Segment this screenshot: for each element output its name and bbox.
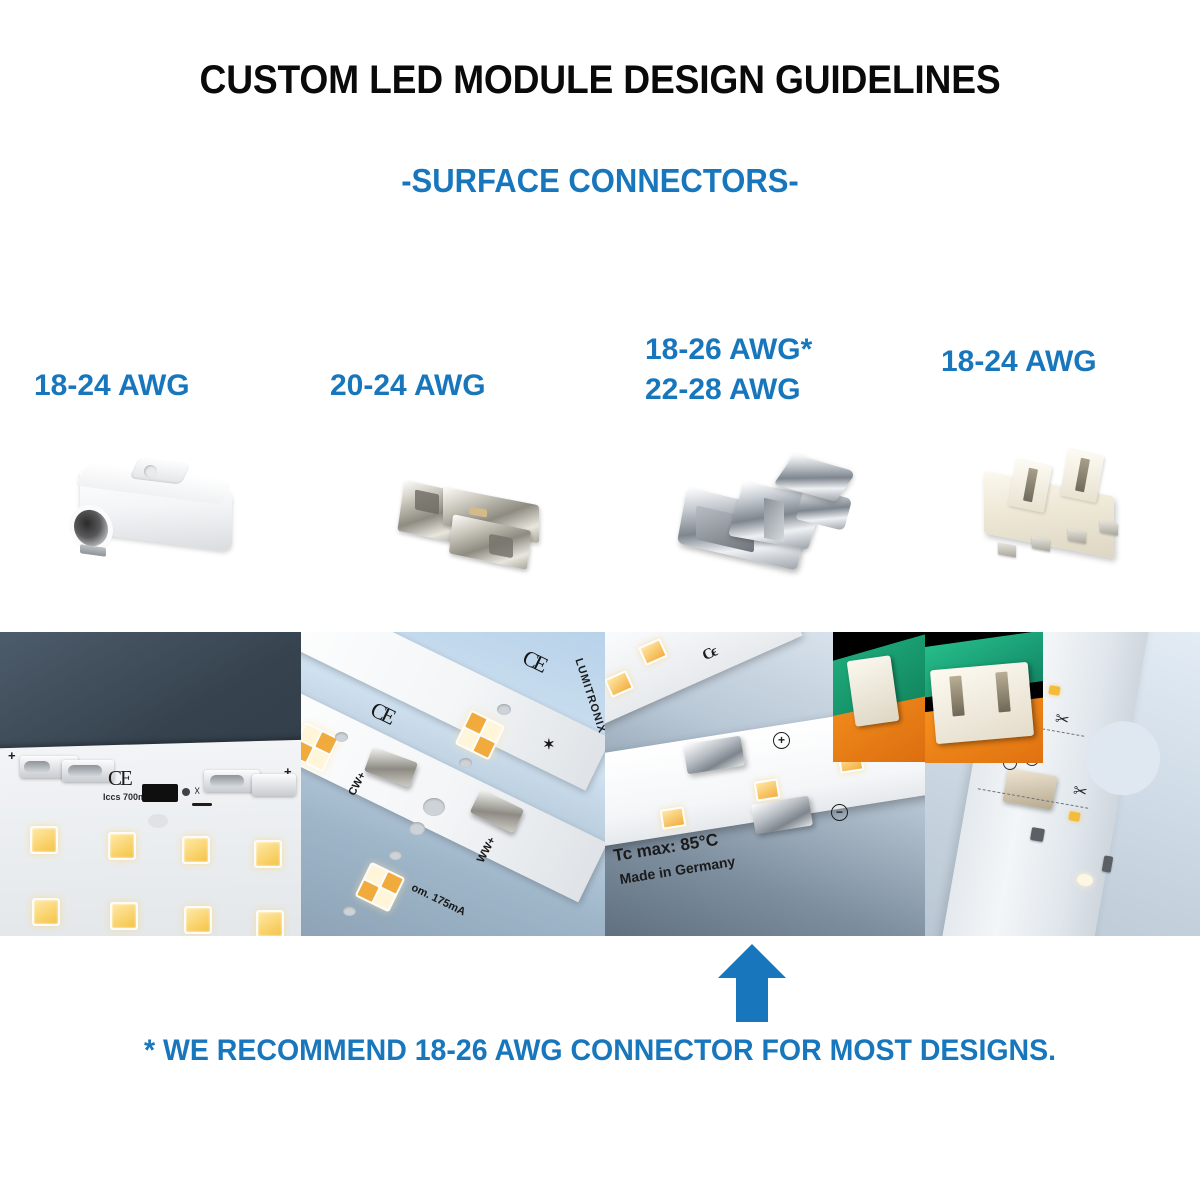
board-hole xyxy=(389,850,402,860)
connector-closeup-inset xyxy=(925,632,1043,763)
led-chip xyxy=(660,806,687,830)
led-chip xyxy=(254,840,282,868)
starburst-icon: ✶ xyxy=(543,736,555,753)
strip-smd-component xyxy=(1030,827,1045,842)
weee-bar xyxy=(192,803,212,806)
ce-mark-icon: CE xyxy=(108,766,131,791)
board-hole xyxy=(343,906,356,916)
application-photo-strip: + + CE Iccs 700mA ☓ xyxy=(0,632,1200,936)
ce-mark-icon: CE xyxy=(366,696,397,729)
awg-label-connector-2-line-1: 20-24 AWG xyxy=(330,366,486,406)
ce-mark-icon: CE xyxy=(518,644,549,677)
awg-label-connector-3-line-1: 18-26 AWG* xyxy=(645,330,812,370)
led-chip xyxy=(30,826,58,854)
page-title: CUSTOM LED MODULE DESIGN GUIDELINES xyxy=(42,58,1158,103)
surface-clip-2-slot xyxy=(68,765,102,777)
led-chip xyxy=(754,778,781,802)
strip-resistor xyxy=(1102,855,1114,872)
nominal-current-label: om. 175mA xyxy=(409,882,467,919)
led-quad-chip xyxy=(355,862,406,913)
polarity-minus-icon: − xyxy=(831,804,848,821)
led-chip xyxy=(182,836,210,864)
upward-arrow-icon xyxy=(718,944,786,1022)
inset-white-connector xyxy=(847,655,900,726)
connector-release-dot xyxy=(144,465,157,478)
strip-cutout xyxy=(1080,715,1166,801)
flexible-led-strip-with-header-photo: ✂ − + ✂ xyxy=(925,632,1200,936)
white-smd-header-connector-photo xyxy=(968,448,1158,598)
awg-label-connector-1: 18-24 AWG xyxy=(34,366,190,406)
page-subtitle: -SURFACE CONNECTORS- xyxy=(36,162,1164,200)
board-component-chip xyxy=(142,784,178,802)
strip-led-chip xyxy=(1048,685,1060,696)
recommendation-note: * WE RECOMMEND 18-26 AWG CONNECTOR FOR M… xyxy=(30,1034,1170,1068)
chrome-spring-clip-connector-photo xyxy=(672,454,872,589)
connector-solder-foot xyxy=(80,544,106,557)
board-hole xyxy=(335,732,348,742)
led-chip xyxy=(184,906,212,934)
inset-white-header-connector xyxy=(930,662,1034,744)
weee-bin-icon: ☓ xyxy=(194,784,200,798)
board-via-dot xyxy=(182,788,190,796)
metal-clip-connector-photo xyxy=(385,470,585,580)
awg-label-connector-3-line-2: 22-28 AWG xyxy=(645,370,812,410)
connector-photo-row xyxy=(0,432,1200,622)
connector-closeup-inset xyxy=(833,632,925,762)
infographic-page: CUSTOM LED MODULE DESIGN GUIDELINES -SUR… xyxy=(0,0,1200,1200)
board-hole xyxy=(497,704,511,715)
board-hole xyxy=(409,822,425,835)
led-chip xyxy=(110,902,138,930)
led-chip xyxy=(32,898,60,926)
board-mounting-hole xyxy=(148,814,168,828)
polarity-plus-icon: + xyxy=(773,732,790,749)
surface-clip-1-slot xyxy=(24,761,50,773)
led-chip xyxy=(108,832,136,860)
angled-led-bars-photo: CE CE CW+ WW+ om. 175mA LUMITRONIX ✶ xyxy=(301,632,605,936)
awg-label-row: 18-24 AWG 20-24 AWG 18-26 AWG* 22-28 AWG… xyxy=(0,322,1200,422)
polarity-plus-left: + xyxy=(8,748,16,763)
awg-label-connector-4: 18-24 AWG xyxy=(941,342,1097,382)
board-hole-large xyxy=(423,798,445,816)
surface-clip-3-slot xyxy=(210,775,244,787)
awg-label-connector-2: 20-24 AWG xyxy=(330,366,486,406)
board-hole xyxy=(459,758,472,768)
white-push-wire-connector-photo xyxy=(52,454,252,584)
spring-clip-fold xyxy=(764,498,784,542)
header-smd-pad-2 xyxy=(1032,536,1050,551)
header-smd-pad-1 xyxy=(998,542,1016,557)
led-board-with-surface-clips-photo: + + CE Iccs 700mA ☓ xyxy=(0,632,301,936)
awg-label-connector-1-line-1: 18-24 AWG xyxy=(34,366,190,406)
awg-label-connector-3: 18-26 AWG* 22-28 AWG xyxy=(645,330,812,409)
linear-led-bar-with-clip-connectors-photo: Cϵ Linear + − Tc max: 85°C Made in Germa… xyxy=(605,632,925,936)
led-chip xyxy=(256,910,284,936)
strip-led-chip xyxy=(1068,811,1080,822)
awg-label-connector-4-line-1: 18-24 AWG xyxy=(941,342,1097,382)
surface-clip-4 xyxy=(252,774,296,796)
